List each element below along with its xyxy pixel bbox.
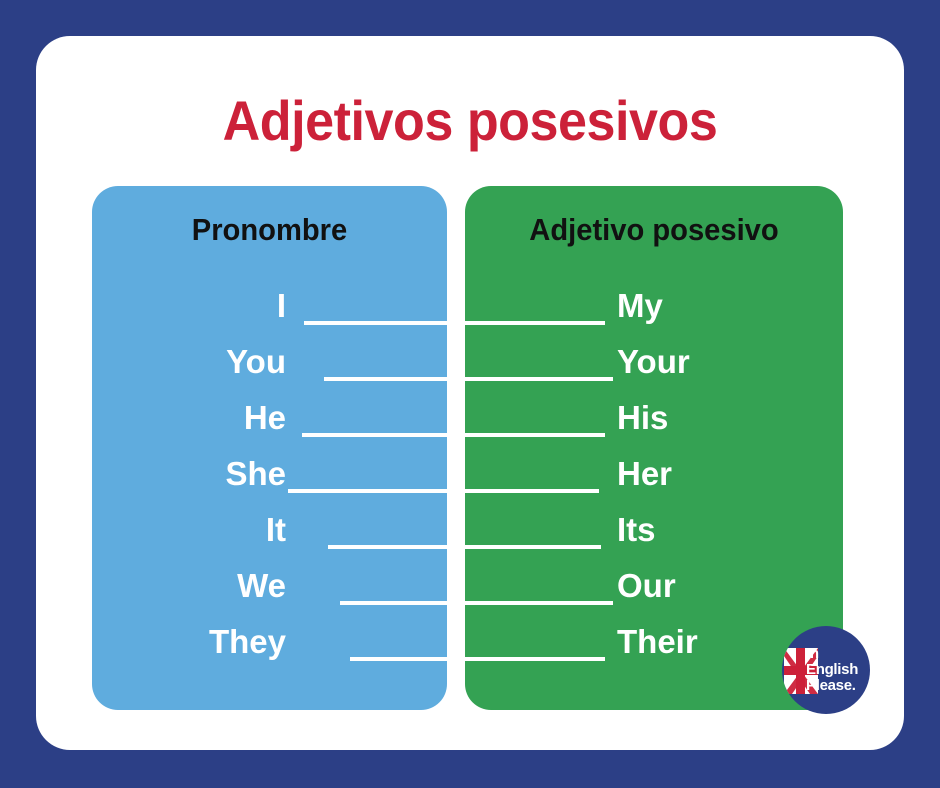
- brand-line-2: English: [806, 662, 870, 678]
- pronoun-column-header: Pronombre: [103, 212, 437, 248]
- pronoun-value: I: [92, 287, 288, 325]
- adjective-value: My: [615, 287, 843, 325]
- adjective-value: His: [615, 399, 843, 437]
- table-row: She Her: [92, 446, 843, 502]
- pronoun-value: You: [92, 343, 288, 381]
- panel-gap: [447, 186, 465, 710]
- brand-logo-text: In English Please.: [806, 646, 870, 694]
- table-row: You Your: [92, 334, 843, 390]
- pronoun-value: She: [92, 455, 288, 493]
- table-row: I My: [92, 278, 843, 334]
- brand-line-1: In: [806, 646, 870, 662]
- brand-line-3: Please.: [806, 678, 870, 694]
- pronoun-value: It: [92, 511, 288, 549]
- adjective-value: Its: [615, 511, 843, 549]
- adjective-column-header: Adjetivo posesivo: [476, 212, 831, 248]
- pairs-list: I My You Your He His She Her It Its We: [92, 278, 843, 678]
- adjective-value: Your: [615, 343, 843, 381]
- pronoun-value: He: [92, 399, 288, 437]
- table-row: It Its: [92, 502, 843, 558]
- table-row: They Their: [92, 614, 843, 670]
- pronoun-value: We: [92, 567, 288, 605]
- pronoun-value: They: [92, 623, 288, 661]
- brand-logo: In English Please.: [782, 626, 870, 714]
- adjective-value: Our: [615, 567, 843, 605]
- page-title: Adjetivos posesivos: [66, 88, 873, 153]
- table-row: We Our: [92, 558, 843, 614]
- adjective-value: Her: [615, 455, 843, 493]
- poster-canvas: Adjetivos posesivos Pronombre Adjetivo p…: [0, 0, 940, 788]
- table-row: He His: [92, 390, 843, 446]
